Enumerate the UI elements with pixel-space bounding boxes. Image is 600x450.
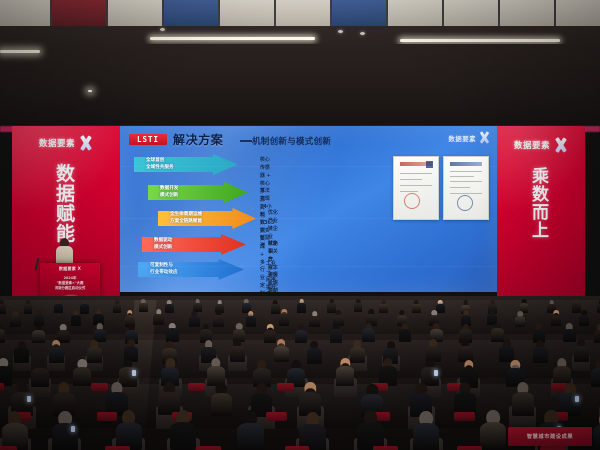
audience-member [170, 410, 196, 450]
audience-member [307, 341, 322, 364]
audience-member [357, 410, 383, 450]
title-divider [240, 140, 252, 142]
audience-body [593, 424, 600, 450]
right-banner-char-2: 数 [497, 186, 585, 204]
red-seat-back [0, 383, 4, 390]
podium-caption: 2024年 "数据要素×"大赛 河南分赛区启动仪式 [40, 276, 100, 291]
audience-member [0, 323, 5, 342]
audience-member [279, 309, 290, 325]
solution-arrow-1: 全球首创 全域性共服务 [134, 154, 238, 175]
audience-body [170, 422, 196, 450]
audience-member [579, 310, 590, 326]
watermark-text: 数据要素 [448, 133, 476, 143]
left-banner-char-3: 赋 [12, 204, 120, 224]
ceiling [0, 0, 600, 26]
audience-body [533, 347, 548, 363]
red-seat-back [457, 446, 482, 450]
right-banner-logo-text: 数据要素 [514, 139, 550, 151]
audience-member [189, 311, 200, 327]
audience-body [213, 315, 224, 326]
left-banner-vertical-text: 数 据 赋 能 [12, 164, 120, 245]
audience-member [14, 341, 29, 364]
audience-member [31, 359, 49, 387]
audience-body [297, 303, 306, 312]
audience-member [533, 340, 548, 363]
audience-member [309, 311, 320, 327]
audience-body [165, 304, 174, 313]
audience-body [189, 316, 200, 327]
solution-arrow-label-4: 数据驱动 模式创新 [154, 238, 172, 251]
audience-member [193, 299, 202, 313]
audience-body [211, 393, 233, 416]
audience-phone-screen [27, 396, 31, 402]
solution-arrow-label-5: 可复制性与 行业带动效应 [150, 263, 178, 276]
audience-member [54, 300, 63, 314]
x-multiply-icon [479, 132, 490, 143]
audience-member [594, 324, 600, 343]
audience-member [49, 340, 64, 363]
audience-member [113, 300, 122, 314]
audience-body [307, 348, 322, 364]
audience-phone-screen [132, 370, 136, 376]
audience-member [512, 382, 534, 415]
red-seat-back [0, 446, 17, 450]
x-multiply-icon [554, 138, 568, 152]
left-banner-logo: 数据要素 [12, 136, 120, 150]
audience-member [213, 310, 224, 326]
bottom-right-banner-text: 智慧城市建设成果 [527, 433, 573, 440]
bottom-right-banner: 智慧城市建设成果 [508, 427, 592, 446]
red-seat-back [540, 446, 565, 450]
audience-member [116, 410, 142, 450]
audience-member [553, 358, 571, 386]
audience-body [0, 329, 5, 342]
audience-body [279, 314, 290, 325]
lsti-logo-text: LSTI [137, 135, 159, 144]
audience-member [0, 300, 6, 314]
audience-phone-screen [434, 370, 438, 376]
audience-body [153, 314, 164, 325]
audience-member [299, 382, 321, 415]
audience-member [246, 311, 257, 327]
red-seat-back [196, 446, 221, 450]
audience-body [330, 329, 343, 342]
audience-phone-screen [71, 426, 75, 432]
audience-member [413, 411, 439, 450]
right-banner-vertical-text: 乘 数 而 上 [497, 168, 585, 240]
audience-body [71, 315, 82, 326]
audience-body [246, 316, 257, 327]
audience-body [49, 347, 64, 363]
red-seat-back [97, 412, 117, 421]
audience-member [412, 300, 421, 314]
audience-body [515, 316, 526, 327]
audience-body [24, 304, 33, 313]
slide-watermark: 数据要素 [448, 132, 490, 143]
audience-member [551, 310, 562, 326]
audience-member [379, 358, 397, 386]
audience-body [480, 422, 506, 450]
audience-member [71, 310, 82, 326]
audience-member [515, 311, 526, 327]
left-banner-char-2: 据 [12, 184, 120, 204]
audience-body [54, 304, 63, 313]
audience-body [594, 330, 600, 343]
red-seat-back [373, 446, 398, 450]
audience-body [113, 304, 122, 313]
audience-body [32, 330, 45, 343]
upper-wall [0, 44, 600, 126]
audience-member [379, 300, 388, 314]
red-seat-back [454, 412, 474, 421]
audience-member [297, 299, 306, 313]
audience-member [336, 358, 354, 386]
solution-arrow-label-1: 全球首创 全域性共服务 [146, 158, 174, 171]
audience-body [309, 316, 320, 327]
audience-member [499, 339, 514, 362]
audience-body [512, 392, 534, 415]
audience-body [230, 346, 245, 362]
audience-body [591, 368, 600, 387]
audience-body [551, 315, 562, 326]
audience-member [480, 410, 506, 450]
audience-body [0, 304, 6, 313]
solution-arrow-label-2: 数据开发 模式创新 [160, 186, 178, 199]
slide-title: 解决方案 [173, 131, 223, 148]
audience-member [139, 299, 148, 313]
audience-member [574, 339, 589, 362]
right-banner-char-3: 而 [497, 204, 585, 222]
audience-member [24, 300, 33, 314]
red-seat-back [285, 446, 310, 450]
audience-body [80, 304, 89, 313]
red-seat-back [105, 446, 130, 450]
audience-member [330, 324, 343, 343]
audience-member [591, 360, 600, 388]
solution-arrow-5: 可复制性与 行业带动效应 [138, 259, 244, 280]
red-seat-back [277, 383, 294, 390]
audience-body [354, 303, 363, 312]
audience-member [454, 382, 476, 415]
audience-member [73, 359, 91, 387]
audience-member [2, 411, 28, 450]
audience-body [31, 368, 49, 387]
audience-body [14, 347, 29, 363]
solution-arrow-2: 数据开发 模式创新 [148, 182, 248, 203]
solution-detail-2: 多源异构数据集成 + 多行业定制化开发 [260, 189, 265, 292]
red-seat-back [266, 412, 286, 421]
audience-member [10, 311, 21, 327]
audience-member [153, 309, 164, 325]
audience-member [399, 323, 412, 342]
audience-body [10, 315, 21, 326]
x-multiply-icon [79, 136, 93, 150]
audience-body [399, 329, 412, 342]
audience-body [295, 330, 308, 343]
presentation-screen: LSTI 解决方案 机制创新与模式创新 数据要素 [120, 126, 497, 292]
audience-phone-screen [575, 396, 579, 402]
audience-member [207, 358, 225, 386]
audience-member [354, 299, 363, 313]
lsti-logo: LSTI [129, 134, 167, 145]
podium-logo-text: 数据要素 X [40, 266, 100, 272]
audience-body [412, 304, 421, 313]
audience-member [80, 300, 89, 314]
audience-body [336, 366, 354, 385]
audience-member [274, 339, 289, 362]
left-banner-logo-text: 数据要素 [39, 137, 75, 149]
audience-member [32, 324, 45, 343]
conference-hall-scene: 数据要素 数 据 赋 能 数据要素 乘 数 而 上 LSTI 解决方案 机 [0, 0, 600, 450]
audience-member [211, 383, 233, 416]
audience-body [237, 423, 263, 450]
red-seat-back [188, 383, 205, 390]
left-banner-char-1: 数 [12, 164, 120, 184]
audience-member [593, 412, 600, 450]
right-banner-char-1: 乘 [497, 168, 585, 186]
audience-member [295, 324, 308, 343]
audience-body [579, 315, 590, 326]
audience-member [299, 412, 325, 450]
ceiling-beam [0, 26, 600, 44]
audience-body [139, 303, 148, 312]
right-banner-char-4: 上 [497, 222, 585, 240]
audience-body [379, 304, 388, 313]
podium-caption-line-3: 河南分赛区启动仪式 [40, 286, 100, 291]
slide-subtitle: 机制创新与模式创新 [252, 135, 331, 147]
audience-body [413, 423, 439, 450]
audience-body [73, 367, 91, 386]
right-banner-logo: 数据要素 [497, 138, 585, 152]
right-red-banner: 数据要素 乘 数 而 上 [497, 126, 585, 296]
audience-member [166, 323, 179, 342]
audience-member [237, 410, 263, 450]
audience-member [458, 339, 473, 362]
audience-member [165, 300, 174, 314]
solution-arrow-4: 数据驱动 模式创新 [142, 234, 246, 255]
speaker-person [56, 238, 73, 266]
audience-member [230, 339, 245, 362]
audience-body [574, 346, 589, 362]
